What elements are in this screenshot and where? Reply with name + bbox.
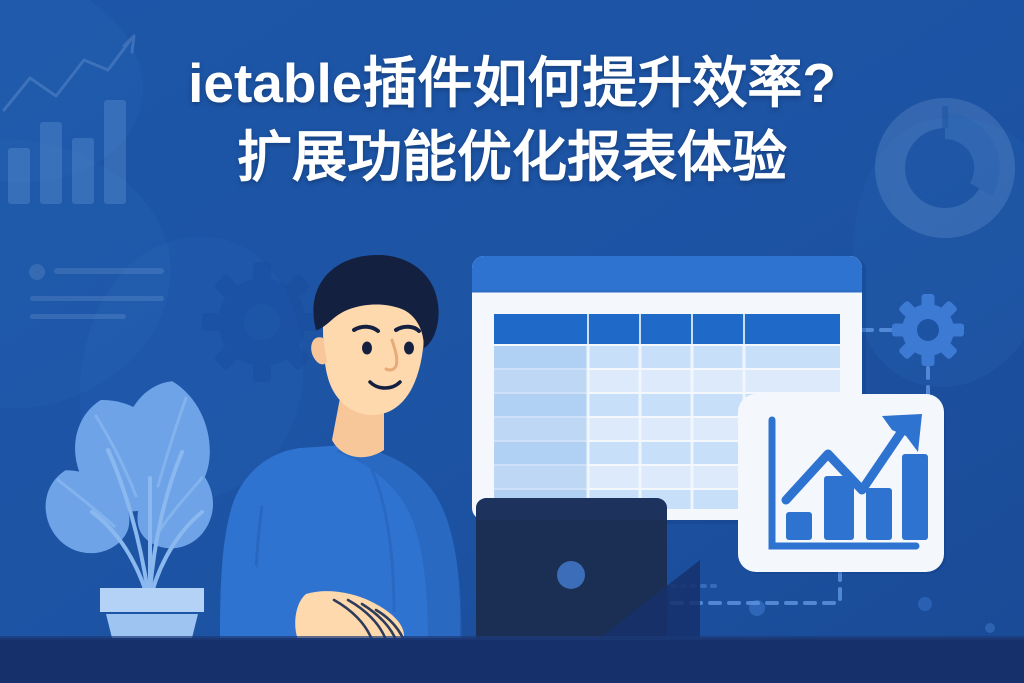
illustration-layer bbox=[0, 0, 1024, 683]
chart-bar-4 bbox=[902, 454, 928, 540]
chart-bar-1 bbox=[786, 512, 812, 540]
plant-pot-rim bbox=[100, 588, 204, 612]
person-eye-right bbox=[404, 342, 414, 355]
growth-chart-card bbox=[738, 394, 946, 574]
window-titlebar bbox=[472, 256, 862, 292]
chart-bar-3 bbox=[866, 488, 892, 540]
potted-plant bbox=[38, 374, 224, 662]
office-worker bbox=[220, 255, 462, 644]
chart-bar-2 bbox=[824, 476, 854, 540]
laptop-lid-highlight bbox=[476, 498, 667, 520]
desk-surface bbox=[0, 638, 1024, 683]
table-header-row bbox=[494, 314, 840, 344]
laptop-logo bbox=[557, 561, 585, 589]
gear-right bbox=[892, 294, 964, 366]
banner-canvas: ietable插件如何提升效率? 扩展功能优化报表体验 bbox=[0, 0, 1024, 683]
desk-edge-highlight bbox=[0, 636, 1024, 640]
plant-leaves bbox=[38, 374, 224, 562]
person-eye-left bbox=[362, 342, 372, 355]
